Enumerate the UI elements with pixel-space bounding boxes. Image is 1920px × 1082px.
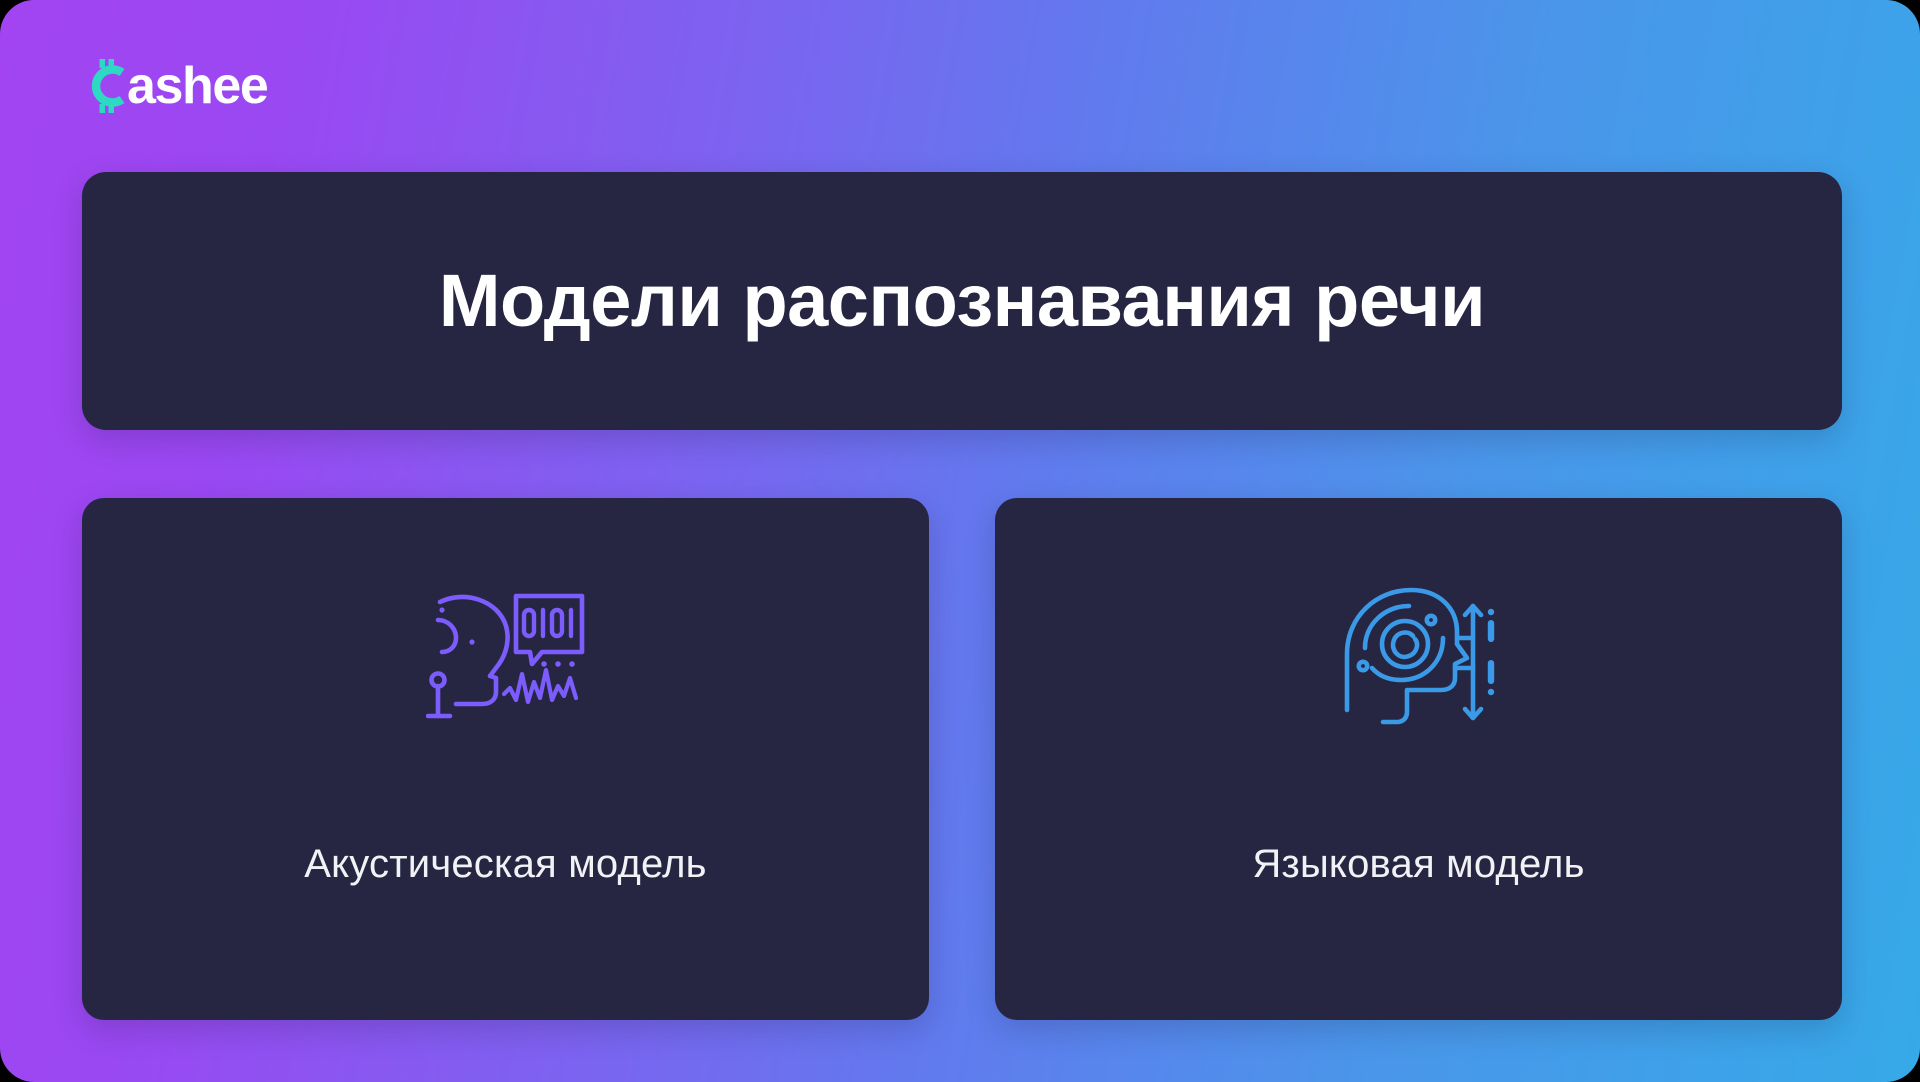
model-card-label-acoustic: Акустическая модель: [82, 842, 929, 887]
header-banner-card: Модели распознавания речи: [82, 172, 1842, 430]
cent-sign-icon: [82, 59, 126, 113]
slide-root: ashee Модели распознавания речи: [0, 0, 1920, 1082]
page-title: Модели распознавания речи: [439, 262, 1485, 340]
model-cards-row: Акустическая модель: [82, 498, 1842, 1020]
model-card-label-language: Языковая модель: [995, 842, 1842, 887]
brand-logo-wordmark: ashee: [127, 60, 267, 112]
model-card-language[interactable]: Языковая модель: [995, 498, 1842, 1020]
head-neural-spiral-arrows-icon: [1339, 582, 1499, 732]
brand-logo: ashee: [82, 58, 267, 114]
head-speech-binary-waveform-icon: [426, 582, 586, 732]
model-card-acoustic[interactable]: Акустическая модель: [82, 498, 929, 1020]
